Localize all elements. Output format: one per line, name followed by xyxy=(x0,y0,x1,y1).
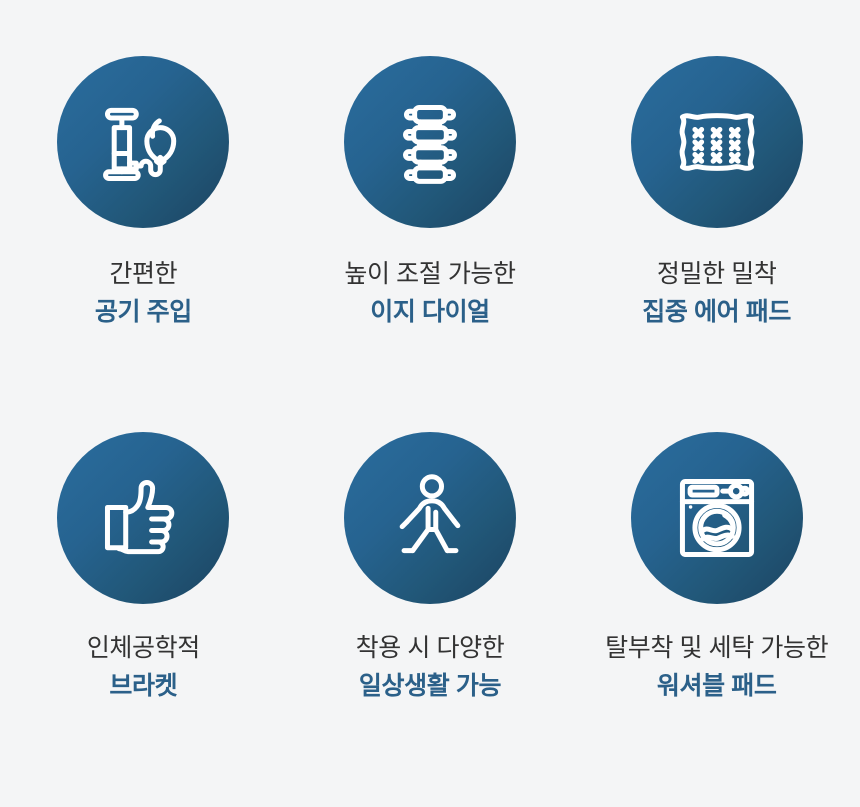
feature-caption: 정밀한 밀착 집중 에어 패드 xyxy=(642,258,791,329)
feature-item-washable-pad: 탈부착 및 세탁 가능한 워셔블 패드 xyxy=(573,432,860,807)
feature-caption: 인체공학적 브라켓 xyxy=(87,632,200,703)
feature-caption: 간편한 공기 주입 xyxy=(95,258,192,329)
feature-caption-top: 높이 조절 가능한 xyxy=(344,258,515,291)
walking-person-icon xyxy=(382,470,478,566)
feature-caption-top: 착용 시 다양한 xyxy=(356,632,505,665)
cushion-pad-icon xyxy=(669,94,765,190)
feature-caption: 높이 조절 가능한 이지 다이얼 xyxy=(344,258,515,329)
feature-caption-top: 간편한 xyxy=(95,258,192,291)
feature-caption: 탈부착 및 세탁 가능한 워셔블 패드 xyxy=(605,632,828,703)
feature-icon-badge xyxy=(57,432,229,604)
feature-item-easy-dial: 높이 조절 가능한 이지 다이얼 xyxy=(287,56,574,432)
feature-caption-bottom: 집중 에어 패드 xyxy=(642,296,791,329)
feature-caption-bottom: 공기 주입 xyxy=(95,296,192,329)
thumbs-up-icon xyxy=(95,470,191,566)
feature-caption-bottom: 브라켓 xyxy=(87,670,200,703)
feature-caption-bottom: 워셔블 패드 xyxy=(605,670,828,703)
feature-item-bracket: 인체공학적 브라켓 xyxy=(0,432,287,807)
feature-icon-badge xyxy=(344,432,516,604)
feature-caption-bottom: 이지 다이얼 xyxy=(344,296,515,329)
feature-caption-top: 탈부착 및 세탁 가능한 xyxy=(605,632,828,665)
feature-icon-badge xyxy=(57,56,229,228)
feature-icon-badge xyxy=(631,56,803,228)
feature-caption-bottom: 일상생활 가능 xyxy=(356,670,505,703)
feature-icon-badge xyxy=(344,56,516,228)
feature-caption: 착용 시 다양한 일상생활 가능 xyxy=(356,632,505,703)
feature-item-daily-life: 착용 시 다양한 일상생활 가능 xyxy=(287,432,574,807)
washing-machine-icon xyxy=(669,470,765,566)
feature-caption-top: 정밀한 밀착 xyxy=(642,258,791,291)
feature-item-air-pad: 정밀한 밀착 집중 에어 패드 xyxy=(573,56,860,432)
spine-vertebrae-icon xyxy=(382,94,478,190)
feature-caption-top: 인체공학적 xyxy=(87,632,200,665)
feature-icon-badge xyxy=(631,432,803,604)
feature-grid: 간편한 공기 주입 xyxy=(0,0,860,807)
feature-item-air-injection: 간편한 공기 주입 xyxy=(0,56,287,432)
air-pump-balloon-icon xyxy=(95,94,191,190)
